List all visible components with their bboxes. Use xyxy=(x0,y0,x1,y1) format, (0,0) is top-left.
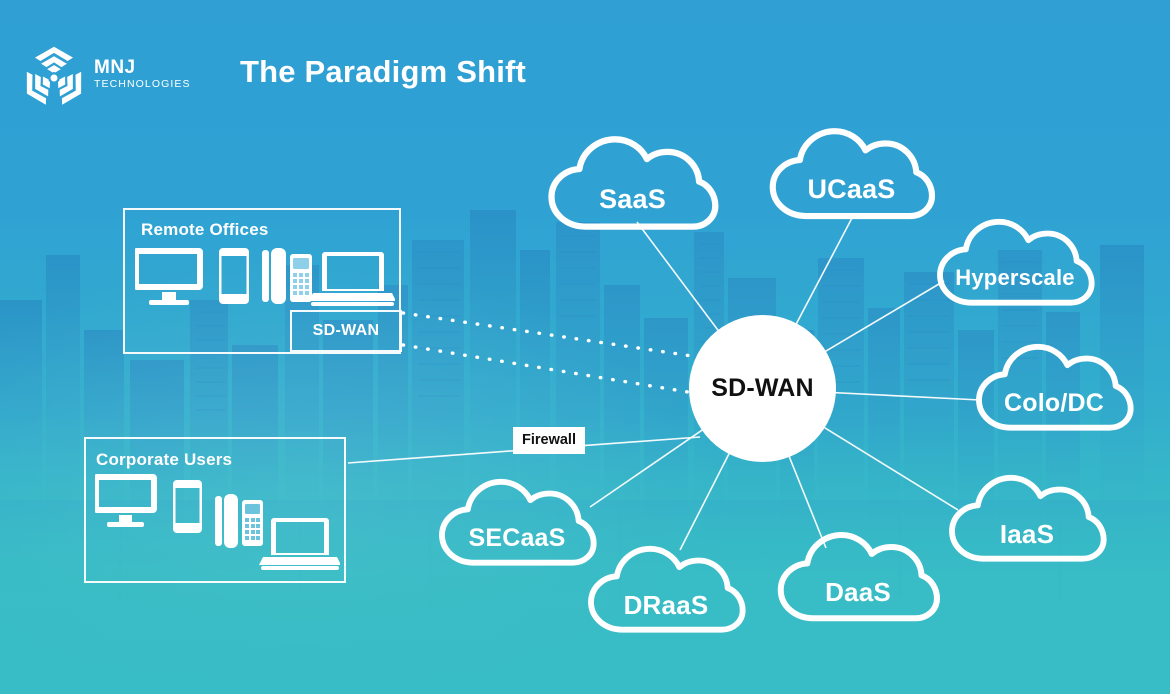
link-remote-dotted-2 xyxy=(403,345,694,393)
hub-sdwan[interactable]: SD-WAN xyxy=(689,315,836,462)
header: MNJ TECHNOLOGIES The Paradigm Shift xyxy=(0,0,1170,150)
desk-phone-icon xyxy=(215,494,263,548)
hub-label: SD-WAN xyxy=(711,374,814,403)
desktop-monitor-icon xyxy=(95,474,157,527)
laptop-icon xyxy=(309,252,395,306)
cloud-shape-icon xyxy=(757,125,946,230)
sdwan-tag-label: SD-WAN xyxy=(313,322,380,340)
cloud-shape-icon xyxy=(966,341,1142,441)
smartphone-icon xyxy=(173,480,202,533)
group-title-remote-offices: Remote Offices xyxy=(141,220,269,240)
device-icons-remote-offices xyxy=(135,246,395,308)
cloud-node-colodc[interactable]: Colo/DC xyxy=(966,341,1142,441)
cloud-node-secaas[interactable]: SECaaS xyxy=(428,476,606,576)
brand-tagline: TECHNOLOGIES xyxy=(94,79,191,90)
cloud-shape-icon xyxy=(938,472,1116,572)
firewall-label-text: Firewall xyxy=(522,432,576,448)
desktop-monitor-icon xyxy=(135,248,203,305)
page-title: The Paradigm Shift xyxy=(240,54,526,90)
cloud-node-hyperscale[interactable]: Hyperscale xyxy=(925,216,1105,316)
hex-cube-chevron-logo-icon xyxy=(20,44,88,112)
smartphone-icon xyxy=(219,248,249,304)
firewall-label: Firewall xyxy=(513,427,585,454)
diagram-canvas: MNJ TECHNOLOGIES The Paradigm Shift Remo… xyxy=(0,0,1170,694)
cloud-shape-icon xyxy=(925,216,1105,316)
cloud-node-daas[interactable]: DaaS xyxy=(767,529,949,632)
cloud-shape-icon xyxy=(541,133,724,241)
device-icons-corporate-users xyxy=(95,472,340,577)
cloud-node-iaas[interactable]: IaaS xyxy=(938,472,1116,572)
laptop-icon xyxy=(259,518,340,570)
cloud-shape-icon xyxy=(428,476,606,576)
brand-logo-text: MNJ TECHNOLOGIES xyxy=(94,58,191,90)
cloud-shape-icon xyxy=(767,529,949,632)
brand-logo: MNJ TECHNOLOGIES xyxy=(20,44,210,114)
sdwan-tag-remote-offices: SD-WAN xyxy=(290,310,402,352)
group-title-corporate-users: Corporate Users xyxy=(96,450,232,470)
desk-phone-icon xyxy=(262,248,312,304)
cloud-node-saas[interactable]: SaaS xyxy=(541,133,724,241)
link-remote-dotted-1 xyxy=(403,313,692,356)
cloud-node-ucaas[interactable]: UCaaS xyxy=(757,125,946,230)
brand-name: MNJ xyxy=(94,58,191,77)
